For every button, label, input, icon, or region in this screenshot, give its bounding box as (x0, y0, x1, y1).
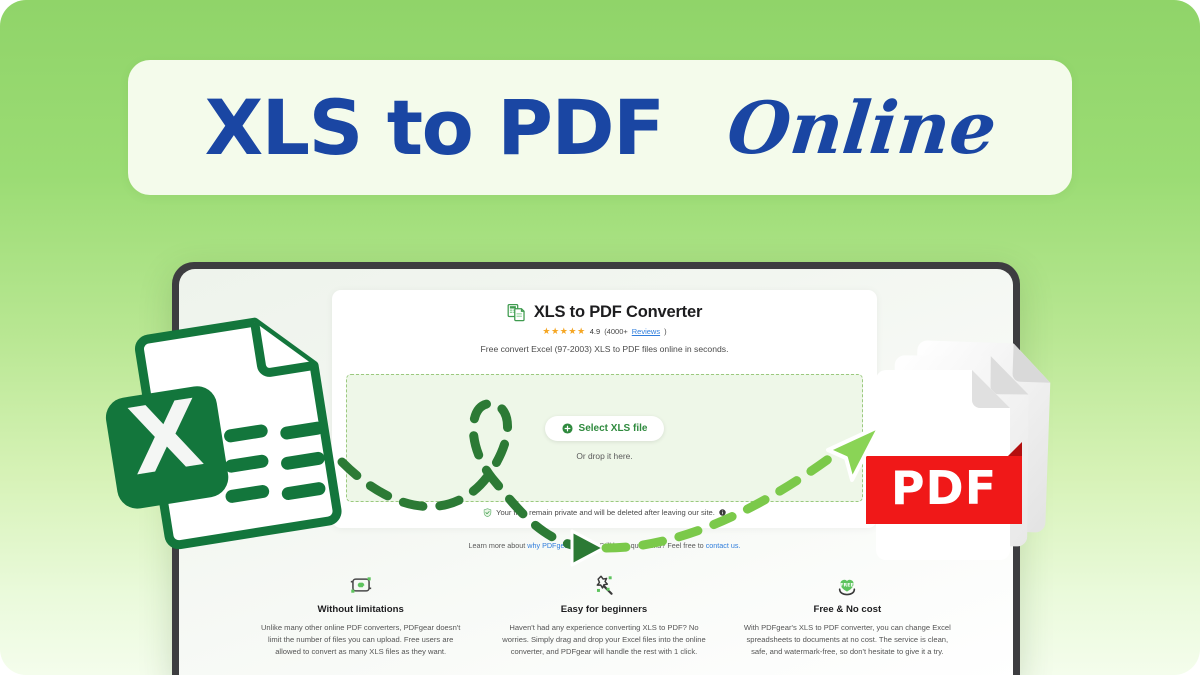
feature-body: Unlike many other online PDF converters,… (257, 622, 464, 657)
svg-text:FREE: FREE (841, 582, 854, 588)
pdf-file-stack-icon: PDF (866, 334, 1072, 560)
xls-to-pdf-doc-icon (507, 303, 526, 322)
feature-title: Without limitations (257, 604, 464, 615)
star-rating-icon: ★★★★★ (542, 326, 585, 337)
help-links-row: Learn more about why PDFgear is free.Sti… (332, 541, 877, 550)
reviews-link[interactable]: Reviews (632, 327, 660, 336)
feature-easy-for-beginners: Easy for beginners Haven't had any exper… (482, 574, 725, 657)
contact-us-link[interactable]: contact us. (706, 541, 741, 550)
shield-check-icon (483, 508, 492, 517)
converter-subtitle: Free convert Excel (97-2003) XLS to PDF … (332, 344, 877, 354)
feature-without-limitations: Without limitations Unlike many other on… (239, 574, 482, 657)
drop-hint-text: Or drop it here. (576, 451, 632, 461)
features-row: Without limitations Unlike many other on… (239, 574, 969, 657)
rating-value: 4.9 (590, 327, 600, 336)
why-pdfgear-is-free-link[interactable]: why PDFgear is free. (527, 541, 594, 550)
plus-circle-icon (562, 423, 573, 434)
converter-card: XLS to PDF Converter ★★★★★ 4.9 (4000+ Re… (332, 290, 877, 528)
magic-wand-icon (500, 574, 707, 596)
headline-main-text: XLS to PDF (205, 90, 664, 166)
feature-title: Easy for beginners (500, 604, 707, 615)
rating-row: ★★★★★ 4.9 (4000+ Reviews) (332, 326, 877, 337)
rating-count-prefix: (4000+ (604, 327, 628, 336)
select-xls-file-label: Select XLS file (579, 423, 648, 434)
info-icon[interactable] (719, 509, 726, 516)
rating-count-suffix: ) (664, 327, 667, 336)
links-middle-text: Still have questions? Feel free to (599, 541, 705, 550)
infinite-loop-icon (257, 574, 464, 596)
hand-heart-free-icon: FREE (744, 574, 951, 596)
svg-text:PDF: PDF (891, 461, 997, 515)
privacy-notice-row: Your files remain private and will be de… (332, 508, 877, 517)
privacy-notice-text: Your files remain private and will be de… (496, 508, 715, 517)
headline-script-text: Online (724, 92, 1000, 164)
feature-body: Haven't had any experience converting XL… (500, 622, 707, 657)
poster-stage: XLS to PDF Online (0, 0, 1200, 675)
headline-banner: XLS to PDF Online (128, 60, 1072, 195)
green-pointer-cursor (818, 420, 888, 492)
excel-xls-file-icon: X (104, 288, 372, 556)
select-xls-file-button[interactable]: Select XLS file (545, 416, 665, 441)
feature-body: With PDFgear's XLS to PDF converter, you… (744, 622, 951, 657)
converter-title: XLS to PDF Converter (534, 303, 702, 322)
feature-title: Free & No cost (744, 604, 951, 615)
file-dropzone[interactable]: Select XLS file Or drop it here. (346, 374, 863, 502)
converter-title-row: XLS to PDF Converter (332, 303, 877, 322)
links-lead-text: Learn more about (469, 541, 528, 550)
feature-free-no-cost: FREE Free & No cost With PDFgear's XLS t… (726, 574, 969, 657)
